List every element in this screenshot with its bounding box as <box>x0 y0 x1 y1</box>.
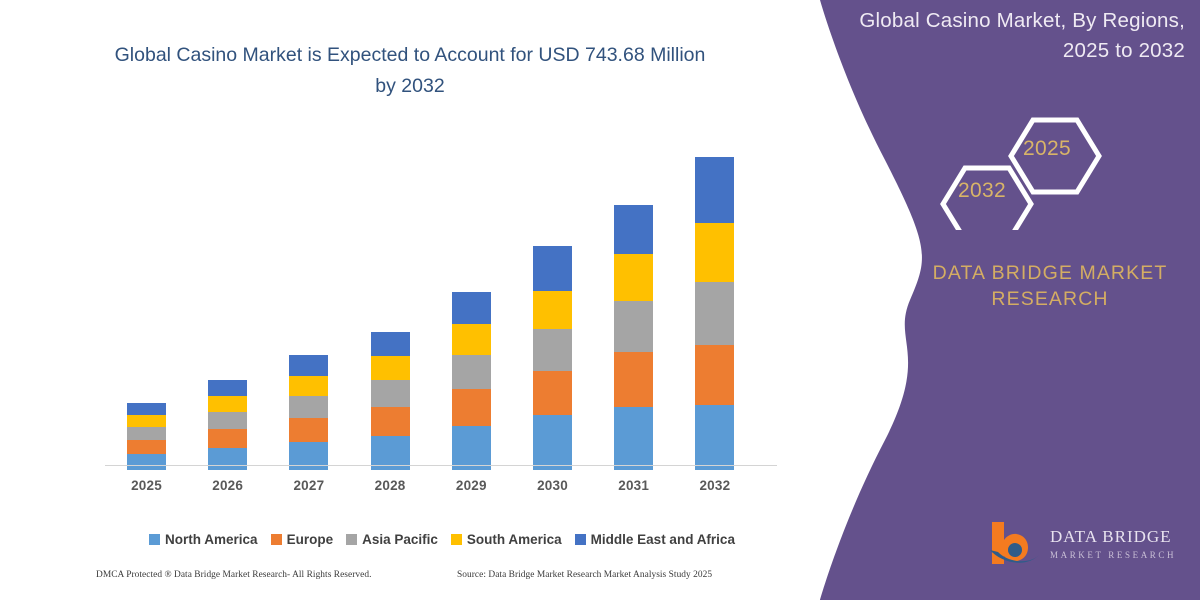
hexagon-pair <box>925 112 1115 230</box>
hexagon-label-end-year: 2025 <box>1023 137 1071 161</box>
x-axis-tick-2028: 2028 <box>360 478 420 493</box>
bar-2032 <box>695 157 734 470</box>
bar-2029 <box>452 292 491 470</box>
bar-segment <box>614 205 653 254</box>
bar-segment <box>127 440 166 454</box>
legend-label: Middle East and Africa <box>591 532 735 547</box>
bar-segment <box>614 407 653 470</box>
bar-segment <box>208 429 247 448</box>
bar-segment <box>695 223 734 282</box>
svg-text:DATA BRIDGE: DATA BRIDGE <box>1050 527 1172 546</box>
legend-item[interactable]: South America <box>451 532 562 547</box>
legend-swatch-icon <box>451 534 462 545</box>
infographic-canvas: Global Casino Market, By Regions, 2025 t… <box>0 0 1200 600</box>
legend-item[interactable]: North America <box>149 532 258 547</box>
x-axis-tick-2029: 2029 <box>441 478 501 493</box>
bar-2031 <box>614 205 653 470</box>
chart-legend: North AmericaEuropeAsia PacificSouth Ame… <box>112 532 772 547</box>
x-axis-tick-2027: 2027 <box>279 478 339 493</box>
bar-segment <box>127 427 166 440</box>
x-axis-tick-2032: 2032 <box>685 478 745 493</box>
panel-title: Global Casino Market, By Regions, 2025 t… <box>845 6 1185 66</box>
legend-item[interactable]: Middle East and Africa <box>575 532 735 547</box>
hexagon-label-start-year: 2032 <box>958 179 1006 203</box>
bar-segment <box>614 301 653 352</box>
legend-swatch-icon <box>575 534 586 545</box>
footer-copyright: DMCA Protected ® Data Bridge Market Rese… <box>96 570 371 580</box>
legend-item[interactable]: Asia Pacific <box>346 532 438 547</box>
brand-name: DATA BRIDGE MARKET RESEARCH <box>905 260 1195 312</box>
legend-label: North America <box>165 532 258 547</box>
chart-title: Global Casino Market is Expected to Acco… <box>110 40 710 102</box>
bar-segment <box>289 355 328 376</box>
bar-segment <box>371 332 410 356</box>
bar-segment <box>695 157 734 223</box>
bar-segment <box>533 246 572 291</box>
bar-segment <box>452 355 491 389</box>
bar-segment <box>452 426 491 470</box>
bar-2025 <box>127 403 166 470</box>
bar-segment <box>289 418 328 442</box>
legend-label: Asia Pacific <box>362 532 438 547</box>
bar-segment <box>289 376 328 396</box>
legend-label: Europe <box>287 532 334 547</box>
bar-segment <box>695 345 734 405</box>
bar-segment <box>371 407 410 436</box>
bar-segment <box>127 415 166 427</box>
stacked-bar-chart <box>100 140 780 470</box>
x-axis-labels: 20252026202720282029203020312032 <box>100 478 780 500</box>
legend-item[interactable]: Europe <box>271 532 334 547</box>
logo-mark <box>990 522 1040 564</box>
bar-segment <box>614 254 653 301</box>
bar-segment <box>695 282 734 345</box>
bar-segment <box>614 352 653 407</box>
footer-source: Source: Data Bridge Market Research Mark… <box>457 570 712 580</box>
bar-segment <box>371 380 410 407</box>
bar-segment <box>208 396 247 412</box>
x-axis-tick-2025: 2025 <box>117 478 177 493</box>
legend-swatch-icon <box>346 534 357 545</box>
bar-segment <box>371 356 410 380</box>
x-axis-tick-2030: 2030 <box>523 478 583 493</box>
bar-segment <box>208 380 247 396</box>
bar-2027 <box>289 355 328 470</box>
x-axis-tick-2031: 2031 <box>604 478 664 493</box>
bar-segment <box>452 324 491 355</box>
bar-2030 <box>533 246 572 470</box>
bar-segment <box>533 371 572 415</box>
bar-segment <box>533 291 572 329</box>
bar-segment <box>452 292 491 324</box>
x-axis-tick-2026: 2026 <box>198 478 258 493</box>
bar-segment <box>533 415 572 470</box>
bar-2026 <box>208 380 247 470</box>
bar-segment <box>127 403 166 415</box>
bar-segment <box>533 329 572 371</box>
bar-segment <box>208 412 247 429</box>
bar-segment <box>208 448 247 470</box>
legend-label: South America <box>467 532 562 547</box>
legend-swatch-icon <box>149 534 160 545</box>
bar-segment <box>127 454 166 470</box>
bar-segment <box>289 396 328 418</box>
x-axis-line <box>105 465 777 466</box>
svg-text:MARKET RESEARCH: MARKET RESEARCH <box>1050 550 1176 560</box>
data-bridge-logo: DATA BRIDGE MARKET RESEARCH <box>988 520 1188 568</box>
bar-segment <box>452 389 491 426</box>
legend-swatch-icon <box>271 534 282 545</box>
bar-2028 <box>371 332 410 470</box>
bar-segment <box>695 405 734 470</box>
